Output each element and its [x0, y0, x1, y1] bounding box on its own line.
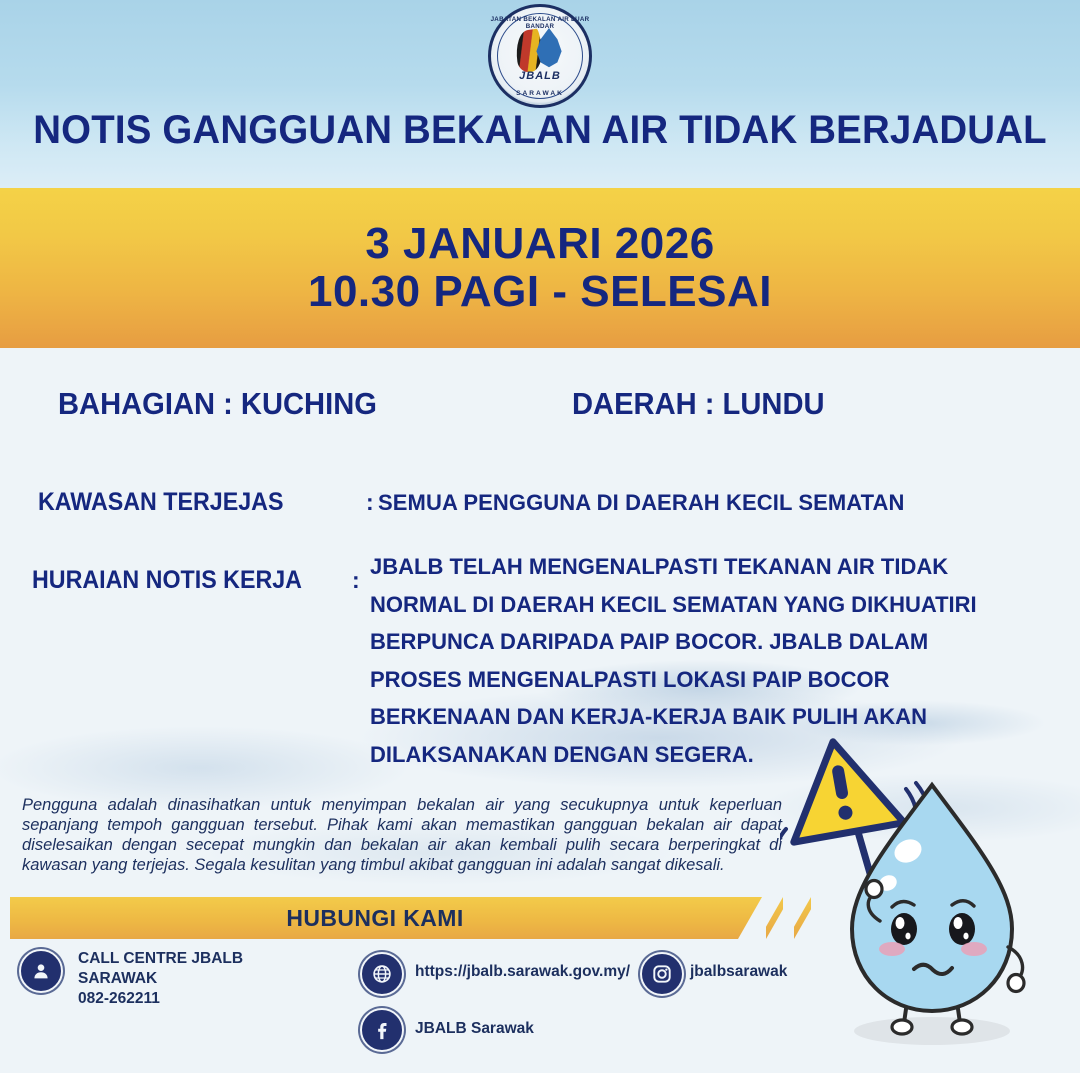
description-line: DILAKSANAKAN DENGAN SEGERA.	[370, 736, 1010, 774]
contact-banner-bar: HUBUNGI KAMI	[10, 897, 762, 939]
contact-list: CALL CENTRE JBALB SARAWAK 082-262211 htt…	[0, 943, 1080, 1073]
work-description-value: JBALB TELAH MENGENALPASTI TEKANAN AIR TI…	[370, 548, 1010, 773]
affected-area-label: KAWASAN TERJEJAS	[38, 488, 283, 517]
division-label: BAHAGIAN : KUCHING	[58, 386, 377, 422]
affected-area-value: SEMUA PENGGUNA DI DAERAH KECIL SEMATAN	[378, 490, 905, 516]
logo-arc-top-text: JABATAN BEKALAN AIR LUAR BANDAR	[488, 16, 592, 30]
page-title: NOTIS GANGGUAN BEKALAN AIR TIDAK BERJADU…	[22, 108, 1059, 153]
logo-wordmark: JBALB	[488, 70, 592, 82]
call-centre-line2: SARAWAK	[78, 969, 243, 989]
affected-area-colon: :	[366, 489, 374, 516]
person-icon[interactable]	[19, 949, 63, 993]
contact-banner: HUBUNGI KAMI	[0, 897, 1080, 939]
instagram-icon[interactable]	[640, 952, 684, 996]
globe-icon[interactable]	[360, 952, 404, 996]
facebook-icon[interactable]	[360, 1008, 404, 1052]
call-centre-phone: 082-262211	[78, 989, 243, 1009]
call-centre-line1: CALL CENTRE JBALB	[78, 949, 243, 969]
work-description-colon: :	[352, 567, 360, 594]
description-line: PROSES MENGENALPASTI LOKASI PAIP BOCOR	[370, 661, 1010, 699]
jbalb-logo: JABATAN BEKALAN AIR LUAR BANDAR JBALB SA…	[488, 4, 592, 108]
description-line: NORMAL DI DAERAH KECIL SEMATAN YANG DIKH…	[370, 586, 1010, 624]
banner-slash-1	[766, 897, 783, 939]
call-centre-text: CALL CENTRE JBALB SARAWAK 082-262211	[78, 949, 243, 1009]
district-label: DAERAH : LUNDU	[572, 386, 825, 422]
facebook-value[interactable]: JBALB Sarawak	[415, 1019, 534, 1039]
work-description-label: HURAIAN NOTIS KERJA	[32, 566, 302, 595]
advisory-text: Pengguna adalah dinasihatkan untuk menyi…	[22, 795, 782, 875]
date-banner: 3 JANUARI 2026 10.30 PAGI - SELESAI	[0, 188, 1080, 348]
banner-slash-2	[794, 897, 811, 939]
notice-time: 10.30 PAGI - SELESAI	[308, 268, 772, 316]
poster-body: BAHAGIAN : KUCHING DAERAH : LUNDU KAWASA…	[0, 348, 1080, 1073]
contact-banner-label: HUBUNGI KAMI	[286, 905, 485, 932]
description-line: BERPUNCA DARIPADA PAIP BOCOR. JBALB DALA…	[370, 623, 1010, 661]
logo-arc-bottom-text: SARAWAK	[488, 90, 592, 97]
poster-header: JABATAN BEKALAN AIR LUAR BANDAR JBALB SA…	[0, 0, 1080, 188]
water-disruption-notice-poster: JABATAN BEKALAN AIR LUAR BANDAR JBALB SA…	[0, 0, 1080, 1073]
description-line: BERKENAAN DAN KERJA-KERJA BAIK PULIH AKA…	[370, 698, 1010, 736]
website-value[interactable]: https://jbalb.sarawak.gov.my/	[415, 962, 630, 982]
notice-date: 3 JANUARI 2026	[365, 220, 714, 268]
description-line: JBALB TELAH MENGENALPASTI TEKANAN AIR TI…	[370, 548, 1010, 586]
instagram-value[interactable]: jbalbsarawak	[690, 962, 787, 982]
